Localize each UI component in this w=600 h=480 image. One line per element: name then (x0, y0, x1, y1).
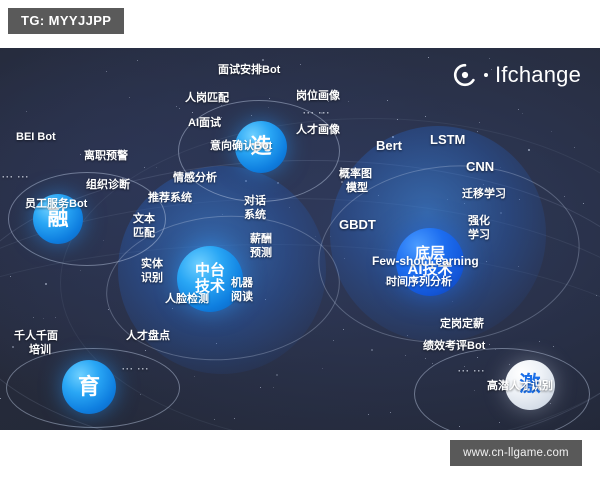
tg-handle-badge: TG: MYYJJPP (8, 8, 124, 34)
star-dot (428, 57, 429, 58)
label-ai-1: LSTM (430, 133, 465, 148)
star-dot (518, 109, 519, 110)
star-dot (479, 122, 480, 123)
star-dot (262, 59, 264, 61)
star-dot (129, 97, 130, 98)
screenshot-root: TG: MYYJJPP 选 融 中台 (0, 0, 600, 480)
label-zhongtai-11: 阅读 (231, 291, 253, 304)
label-rong-0: BEI Bot (16, 131, 56, 144)
label-ai-8: 学习 (468, 229, 490, 242)
label-xuan-1: 人岗匹配 (185, 92, 229, 105)
ifchange-circle-dot-logo (452, 62, 478, 88)
label-ai-4: 模型 (346, 182, 368, 195)
sphere-yu[interactable]: 育 (62, 360, 116, 414)
sphere-rong-label: 融 (48, 208, 69, 230)
label-rong-4: ··· ··· (2, 172, 29, 182)
label-rong-1: 离职预警 (84, 150, 128, 163)
dot-icon (484, 73, 488, 77)
label-rong-3: 员工服务Bot (25, 198, 87, 211)
star-dot (489, 58, 490, 59)
sphere-yu-label: 育 (78, 375, 100, 398)
label-ai-3: 概率图 (339, 168, 372, 181)
brand-lockup: Ifchange (452, 62, 581, 88)
star-dot (80, 154, 81, 155)
label-xuan-0: 面试安排Bot (218, 64, 280, 77)
label-ai-7: 强化 (468, 215, 490, 228)
label-ai-10: 时间序列分析 (386, 276, 452, 289)
poster-image: 选 融 中台 技术 底层 AI技术 (0, 48, 600, 430)
label-zhongtai-10: 机器 (231, 277, 253, 290)
label-yu-3: ··· ··· (122, 364, 149, 374)
sphere-zhongtai-line1: 中台 (195, 262, 225, 279)
star-dot (300, 64, 301, 65)
label-xuan-4: 岗位画像 (296, 90, 340, 103)
label-ji-3: 高潜人才识别 (487, 380, 553, 393)
label-ai-5: 迁移学习 (462, 188, 506, 201)
label-zhongtai-3: 系统 (244, 209, 266, 222)
label-xuan-3: 意向确认Bot (210, 140, 272, 153)
star-dot (348, 101, 349, 102)
star-dot (551, 131, 552, 132)
label-yu-2: 人才盘点 (126, 330, 170, 343)
star-dot (522, 113, 523, 114)
label-zhongtai-9: 识别 (141, 272, 163, 285)
label-zhongtai-12: 人脸检测 (165, 293, 209, 306)
brand-name: Ifchange (495, 62, 581, 88)
star-dot (106, 71, 107, 72)
label-zhongtai-0: 情感分析 (173, 172, 217, 185)
label-zhongtai-8: 实体 (141, 258, 163, 271)
site-watermark: www.cn-llgame.com (450, 440, 582, 466)
label-ji-1: 绩效考评Bot (423, 340, 485, 353)
label-zhongtai-2: 对话 (244, 195, 266, 208)
label-yu-1: 培训 (29, 344, 51, 357)
star-dot (26, 111, 27, 112)
label-zhongtai-5: 匹配 (133, 227, 155, 240)
label-xuan-2: AI面试 (188, 117, 221, 130)
label-xuan-6: 人才画像 (296, 124, 340, 137)
label-rong-2: 组织诊断 (86, 179, 130, 192)
sphere-zhongtai-label: 中台 技术 (195, 263, 225, 295)
star-dot (574, 147, 575, 148)
star-dot (176, 106, 177, 107)
label-zhongtai-1: 推荐系统 (148, 192, 192, 205)
star-dot (425, 116, 426, 117)
label-zhongtai-4: 文本 (133, 213, 155, 226)
label-xuan-5: ··· ··· (303, 108, 330, 118)
label-ji-0: 定岗定薪 (440, 318, 484, 331)
label-zhongtai-7: 预测 (250, 247, 272, 260)
label-ai-0: Bert (376, 139, 402, 154)
label-yu-0: 千人千面 (14, 330, 58, 343)
label-ai-6: GBDT (339, 218, 376, 233)
star-dot (387, 100, 388, 101)
star-dot (137, 60, 138, 61)
label-ai-9: Few-shot Learning (372, 255, 479, 269)
label-zhongtai-6: 薪酬 (250, 233, 272, 246)
label-ai-2: CNN (466, 160, 494, 175)
label-ji-2: ··· ··· (458, 366, 485, 376)
